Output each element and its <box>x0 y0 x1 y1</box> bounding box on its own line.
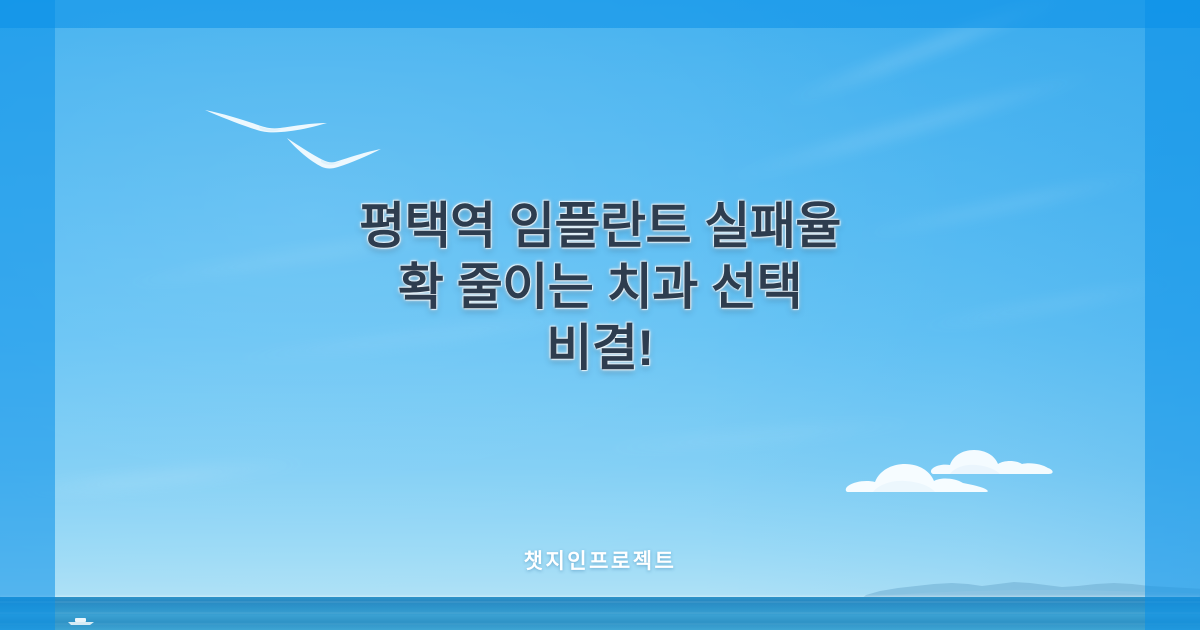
sea-ripple <box>0 623 1200 625</box>
boat-icon <box>66 616 96 625</box>
footer-brand: 챗지인프로젝트 <box>0 549 1200 575</box>
cloud-icon <box>845 458 989 492</box>
title-line-1: 평택역 임플란트 실패율 <box>55 196 1145 257</box>
thumbnail-card: 평택역 임플란트 실패율 확 줄이는 치과 선택 비결! 챗지인프로젝트 <box>0 0 1200 630</box>
seagull-icon <box>283 134 385 174</box>
sea-ripple <box>0 612 1200 614</box>
frame-border-right <box>1145 0 1200 630</box>
sea-ripple <box>0 601 1200 603</box>
frame-border-top <box>0 0 1200 28</box>
brand-label: 챗지인프로젝트 <box>524 550 677 573</box>
page-title: 평택역 임플란트 실패율 확 줄이는 치과 선택 비결! <box>55 196 1145 379</box>
seagull-icon <box>203 104 329 138</box>
frame-border-left <box>0 0 55 630</box>
title-line-2: 확 줄이는 치과 선택 <box>55 257 1145 318</box>
title-line-3: 비결! <box>55 318 1145 379</box>
